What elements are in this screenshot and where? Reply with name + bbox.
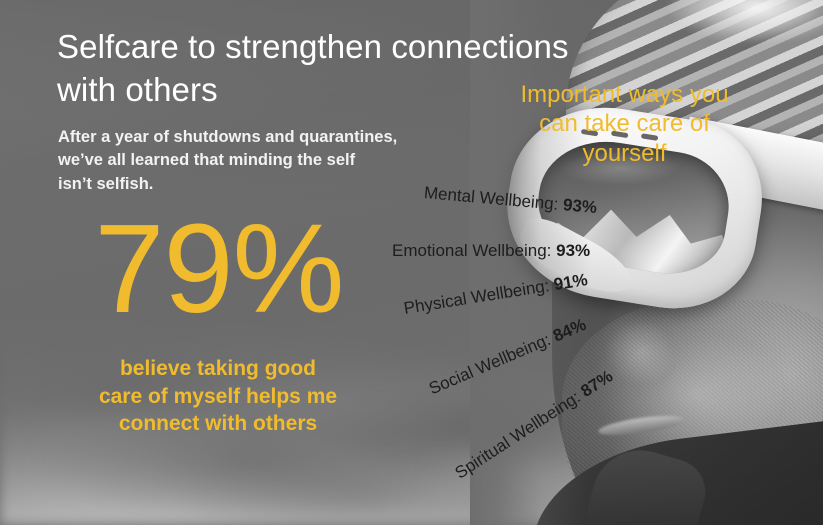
ways-section-heading-line-2: can take care of xyxy=(497,109,752,138)
page-subtitle-line-1: After a year of shutdowns and quarantine… xyxy=(58,126,478,149)
headline-statistic-caption: believe taking good care of myself helps… xyxy=(48,355,388,438)
infographic-canvas: Selfcare to strengthen connections with … xyxy=(0,0,823,525)
ways-section-heading: Important ways you can take care of your… xyxy=(497,80,752,168)
stat-emotional-wellbeing-label: Emotional Wellbeing: xyxy=(392,241,551,260)
page-subtitle-line-3: isn’t selfish. xyxy=(58,173,478,196)
page-subtitle: After a year of shutdowns and quarantine… xyxy=(58,126,478,196)
page-title-line-1: Selfcare to strengthen connections xyxy=(57,26,657,69)
headline-statistic-caption-line-2: care of myself helps me xyxy=(48,383,388,411)
stat-emotional-wellbeing: Emotional Wellbeing: 93% xyxy=(392,241,590,261)
stat-mental-wellbeing-value: 93% xyxy=(562,195,598,217)
ways-section-heading-line-3: yourself xyxy=(497,139,752,168)
headline-statistic-caption-line-3: connect with others xyxy=(48,410,388,438)
stat-physical-wellbeing-value: 91% xyxy=(552,270,589,294)
headline-statistic-value: 79% xyxy=(54,206,384,332)
ways-section-heading-line-1: Important ways you xyxy=(497,80,752,109)
stat-emotional-wellbeing-value: 93% xyxy=(556,241,590,260)
page-subtitle-line-2: we’ve all learned that minding the self xyxy=(58,149,478,172)
headline-statistic-caption-line-1: believe taking good xyxy=(48,355,388,383)
